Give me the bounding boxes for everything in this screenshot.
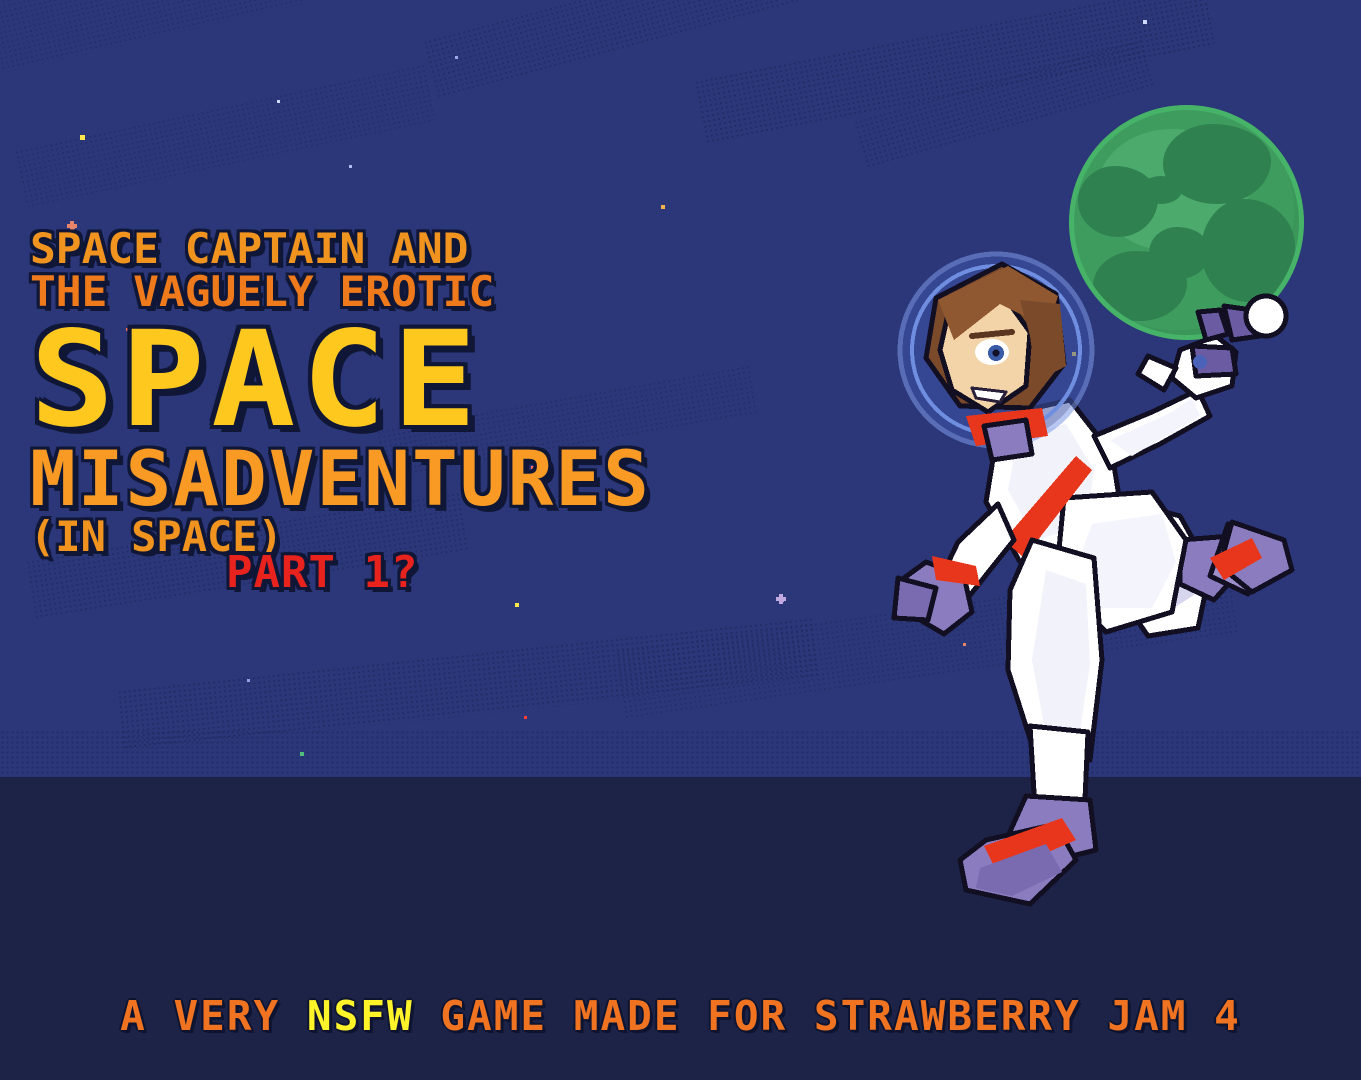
title-line-1: SPACE CAPTAIN AND: [30, 228, 979, 269]
star: [1143, 20, 1147, 24]
tagline-after: GAME MADE FOR STRAWBERRY JAM 4: [414, 992, 1241, 1040]
title-block: SPACE CAPTAIN AND THE VAGUELY EROTIC SPA…: [30, 228, 960, 594]
star: [661, 205, 665, 209]
star: [455, 56, 458, 59]
star: [349, 165, 352, 168]
tagline-before: A VERY: [120, 992, 307, 1040]
star: [247, 679, 250, 682]
tagline: A VERY NSFW GAME MADE FOR STRAWBERRY JAM…: [0, 992, 1361, 1040]
star: [515, 603, 519, 607]
tagline-nsfw-badge: NSFW: [307, 992, 414, 1040]
title-part-number: PART 1?: [226, 551, 960, 594]
star: [300, 752, 304, 756]
star: [779, 597, 784, 602]
game-title-poster: SPACE CAPTAIN AND THE VAGUELY EROTIC SPA…: [0, 0, 1361, 1080]
title-misadventures: MISADVENTURES: [30, 442, 960, 516]
star: [80, 135, 85, 140]
star: [277, 100, 280, 103]
title-main-space: SPACE: [30, 316, 1016, 445]
star: [524, 716, 527, 719]
